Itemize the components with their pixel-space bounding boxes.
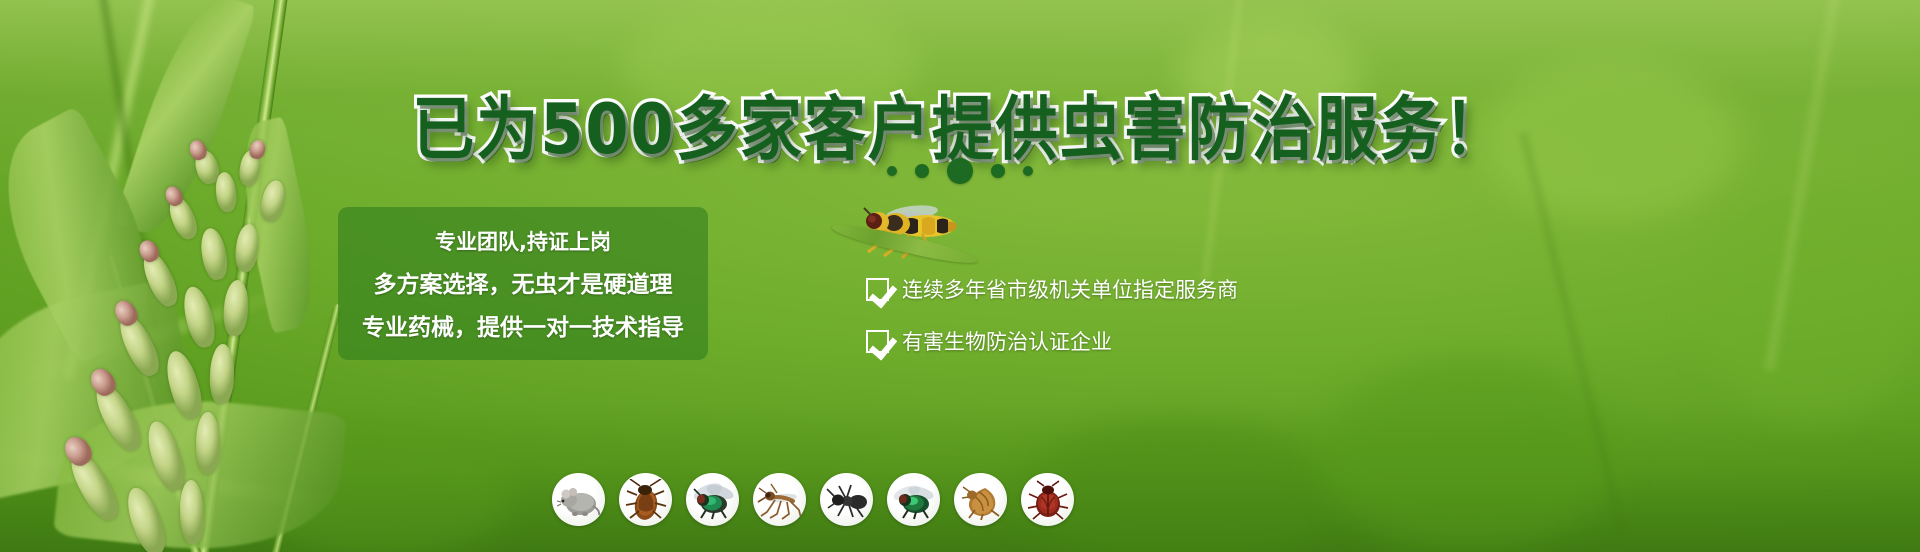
pest-icon-row [552, 473, 1074, 526]
selling-point-line-1: 专业团队,持证上岗 [435, 226, 611, 256]
check-row-2: 有害生物防治认证企业 [866, 326, 1238, 356]
decorative-dots [0, 158, 1920, 184]
bedbug-icon[interactable] [1021, 473, 1074, 526]
dot-medium-icon-2 [991, 164, 1005, 178]
selling-point-line-2: 多方案选择，无虫才是硬道理 [374, 265, 673, 299]
selling-points-panel: 专业团队,持证上岗 多方案选择，无虫才是硬道理 专业药械，提供一对一技术指导 [338, 207, 708, 360]
green-blowfly-icon[interactable] [887, 473, 940, 526]
selling-point-line-3: 专业药械，提供一对一技术指导 [362, 308, 684, 342]
dot-small-icon-2 [1023, 166, 1033, 176]
check-row-1: 连续多年省市级机关单位指定服务商 [866, 274, 1238, 304]
dot-large-icon [947, 158, 973, 184]
checkbox-checked-icon-2 [866, 330, 889, 353]
checkbox-checked-icon [866, 278, 889, 301]
dot-small-icon [887, 166, 897, 176]
fly-icon[interactable] [686, 473, 739, 526]
check-label-2: 有害生物防治认证企业 [902, 326, 1112, 356]
certification-checklist: 连续多年省市级机关单位指定服务商 有害生物防治认证企业 [866, 274, 1238, 356]
promo-banner: 已为500多家客户提供虫害防治服务！ 专业团队,持证上岗 多方案选择，无虫才是硬… [0, 0, 1920, 552]
mouse-icon[interactable] [552, 473, 605, 526]
fly-photo [838, 196, 978, 266]
dot-medium-icon [915, 164, 929, 178]
mosquito-icon[interactable] [753, 473, 806, 526]
ant-icon[interactable] [820, 473, 873, 526]
cockroach-icon[interactable] [619, 473, 672, 526]
flea-icon[interactable] [954, 473, 1007, 526]
check-label-1: 连续多年省市级机关单位指定服务商 [902, 274, 1238, 304]
headline: 已为500多家客户提供虫害防治服务！ [0, 78, 1920, 168]
